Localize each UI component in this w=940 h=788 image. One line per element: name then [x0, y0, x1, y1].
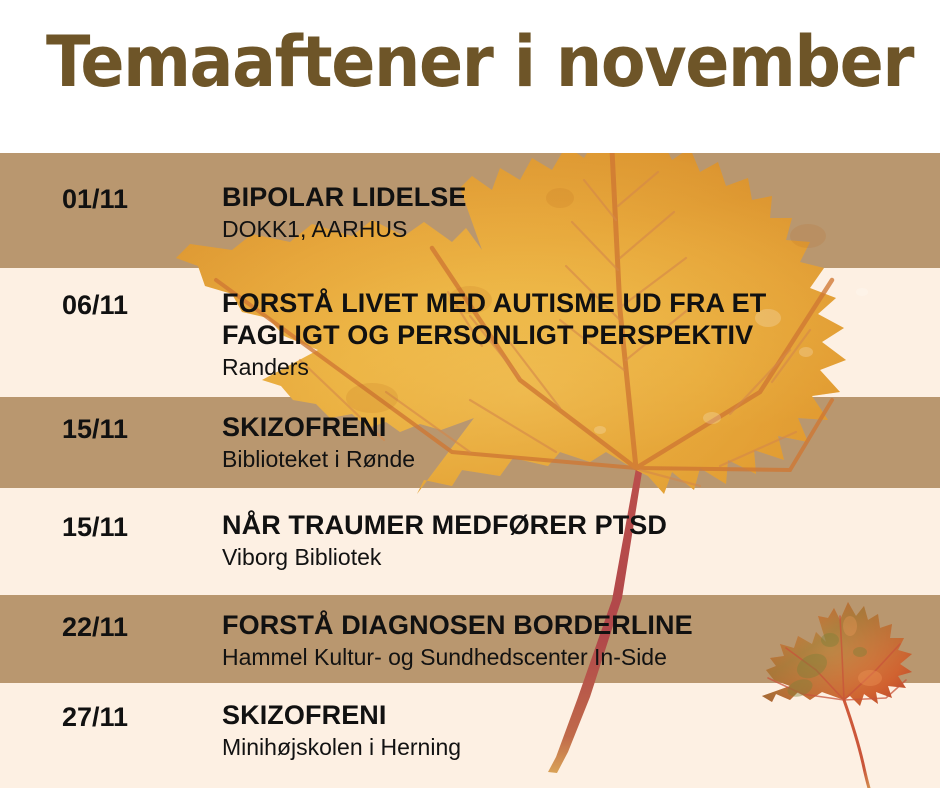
event-info: SKIZOFRENI Minihøjskolen i Herning: [222, 699, 940, 761]
event-info: FORSTÅ DIAGNOSEN BORDERLINE Hammel Kultu…: [222, 609, 940, 671]
event-venue: Hammel Kultur- og Sundhedscenter In-Side: [222, 643, 940, 671]
event-venue: Minihøjskolen i Herning: [222, 733, 940, 761]
event-venue: Viborg Bibliotek: [222, 543, 940, 571]
event-date: 01/11: [62, 184, 128, 215]
event-venue: DOKK1, AARHUS: [222, 215, 940, 243]
event-row[interactable]: 06/11 FORSTÅ LIVET MED AUTISME UD FRA ET…: [0, 268, 940, 397]
event-date: 22/11: [62, 612, 128, 643]
event-row[interactable]: 27/11 SKIZOFRENI Minihøjskolen i Herning: [0, 683, 940, 788]
event-title: SKIZOFRENI: [222, 411, 940, 443]
event-title: FORSTÅ LIVET MED AUTISME UD FRA ET: [222, 287, 940, 319]
event-row[interactable]: 15/11 NÅR TRAUMER MEDFØRER PTSD Viborg B…: [0, 488, 940, 595]
event-row[interactable]: 15/11 SKIZOFRENI Biblioteket i Rønde: [0, 397, 940, 488]
event-date: 06/11: [62, 290, 128, 321]
event-info: SKIZOFRENI Biblioteket i Rønde: [222, 411, 940, 473]
page-title: Temaaftener i november: [46, 27, 913, 97]
event-title: FORSTÅ DIAGNOSEN BORDERLINE: [222, 609, 940, 641]
event-venue: Biblioteket i Rønde: [222, 445, 940, 473]
event-row[interactable]: 01/11 BIPOLAR LIDELSE DOKK1, AARHUS: [0, 153, 940, 268]
event-title: BIPOLAR LIDELSE: [222, 181, 940, 213]
event-title: NÅR TRAUMER MEDFØRER PTSD: [222, 509, 940, 541]
event-title-line2: FAGLIGT OG PERSONLIGT PERSPEKTIV: [222, 319, 940, 351]
event-date: 15/11: [62, 414, 128, 445]
event-info: NÅR TRAUMER MEDFØRER PTSD Viborg Bibliot…: [222, 509, 940, 571]
event-date: 27/11: [62, 702, 128, 733]
event-venue: Randers: [222, 353, 940, 381]
event-info: FORSTÅ LIVET MED AUTISME UD FRA ET FAGLI…: [222, 287, 940, 381]
poster-canvas: Temaaftener i november 01/11 BIPOLAR LID…: [0, 0, 940, 788]
event-title: SKIZOFRENI: [222, 699, 940, 731]
event-row[interactable]: 22/11 FORSTÅ DIAGNOSEN BORDERLINE Hammel…: [0, 595, 940, 683]
event-date: 15/11: [62, 512, 128, 543]
event-info: BIPOLAR LIDELSE DOKK1, AARHUS: [222, 181, 940, 243]
title-bar: Temaaftener i november: [0, 0, 940, 153]
